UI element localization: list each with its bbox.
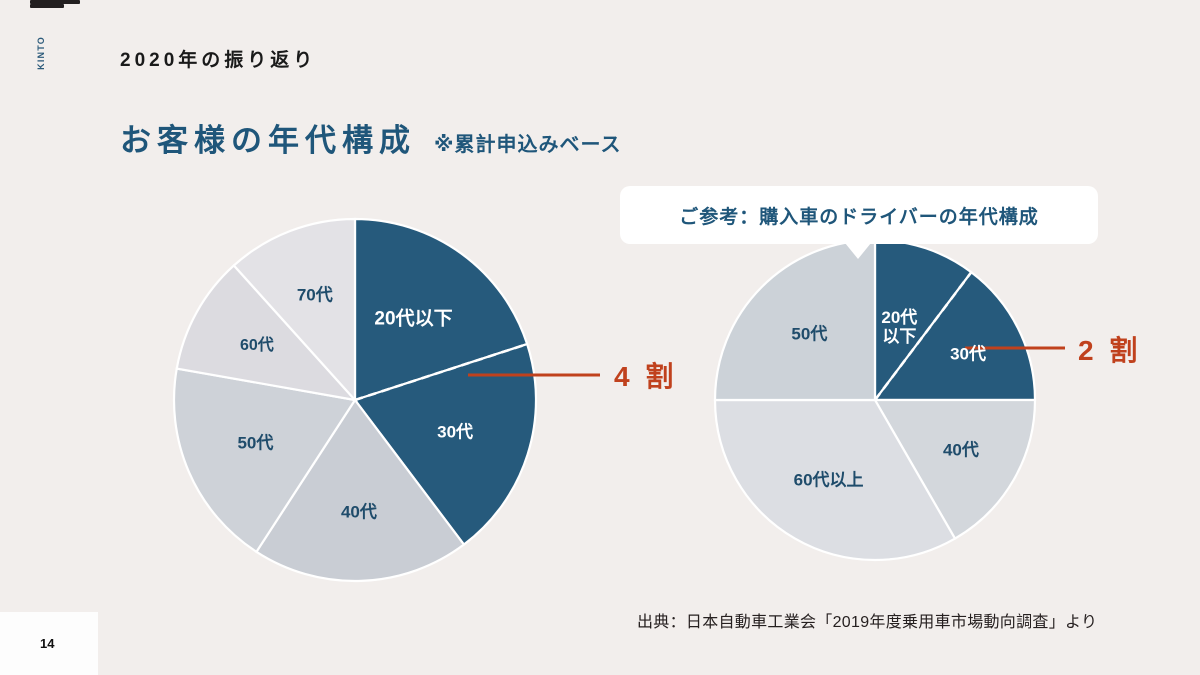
annotation-left-share: 4 割 <box>614 355 677 395</box>
purchased-car-drivers-pie <box>715 240 1035 560</box>
pie-slice-label: 40代 <box>341 503 377 522</box>
pie-slice-label: 70代 <box>297 286 333 305</box>
pie-slice-label: 30代 <box>437 422 473 441</box>
pie-slice-label: 50代 <box>791 325 827 344</box>
reference-callout-tail <box>845 243 871 259</box>
pie-slice-label: 60代 <box>240 337 274 355</box>
pie-slice-label: 40代 <box>943 440 979 459</box>
pie-slice-label: 20代 以下 <box>881 308 917 346</box>
charts-canvas <box>0 0 1200 675</box>
kinto-customers-pie <box>174 219 536 581</box>
reference-callout: ご参考：購入車のドライバーの年代構成 <box>620 186 1098 244</box>
annotation-right-share: 2 割 <box>1078 329 1141 369</box>
source-note: 出典：日本自動車工業会「2019年度乗用車市場動向調査」より <box>637 608 1097 632</box>
pie-slice-label: 30代 <box>950 344 986 363</box>
pie-slice-label: 20代以下 <box>374 309 452 330</box>
page-number: 14 <box>40 636 54 651</box>
reference-callout-label: ご参考：購入車のドライバーの年代構成 <box>679 202 1039 229</box>
pie-slice-label: 50代 <box>237 434 273 453</box>
pie-slice[interactable] <box>715 240 875 400</box>
pie-slice-label: 60代以上 <box>794 471 864 490</box>
